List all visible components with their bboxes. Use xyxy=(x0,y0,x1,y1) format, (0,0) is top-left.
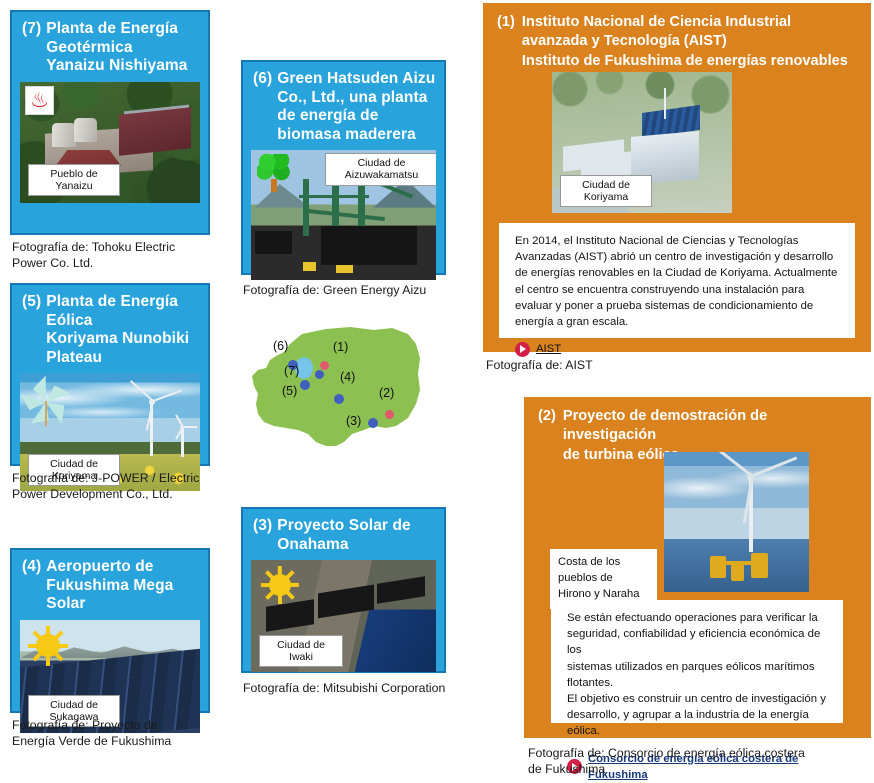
card-1-title-text: Instituto Nacional de Ciencia Industrial… xyxy=(522,13,848,71)
pinwheel-icon xyxy=(26,379,66,425)
card-3-photo: Ciudad de Iwaki xyxy=(251,560,436,672)
card-1-photo: Ciudad de Koriyama xyxy=(552,72,732,213)
card-6-title-text: Green Hatsuden Aizu Co., Ltd., una plant… xyxy=(277,70,435,144)
sun-icon xyxy=(28,626,68,666)
map-label-4: (4) xyxy=(340,370,355,384)
card-7-title: (7) Planta de Energía Geotérmica Yanaizu… xyxy=(22,20,200,76)
card-7-location-tag: Pueblo de Yanaizu xyxy=(28,164,120,196)
card-1-location-tag: Ciudad de Koriyama xyxy=(560,175,652,207)
card-5-number: (5) xyxy=(22,293,46,367)
card-1-link[interactable]: AIST xyxy=(515,341,842,357)
card-5-credit: Fotografía de: J-POWER / Electric Power … xyxy=(12,471,227,502)
card-7-photo: ♨ Pueblo de Yanaizu xyxy=(20,82,200,203)
card-5-title-text: Planta de Energía Eólica Koriyama Nunobi… xyxy=(46,293,200,367)
card-4-title: (4) Aeropuerto de Fukushima Mega Solar xyxy=(22,558,200,614)
card-2-textbox: Se están efectuando operaciones para ver… xyxy=(551,600,843,723)
card-6-photo: Ciudad de Aizuwakamatsu xyxy=(251,150,436,280)
card-3-title-text: Proyecto Solar de Onahama xyxy=(277,517,411,554)
card-4-title-text: Aeropuerto de Fukushima Mega Solar xyxy=(46,558,200,614)
card-7-number: (7) xyxy=(22,20,46,76)
card-3-number: (3) xyxy=(253,517,277,554)
onsen-icon: ♨ xyxy=(25,86,54,115)
map-marker-3[interactable] xyxy=(368,418,378,428)
card-6-location-tag: Ciudad de Aizuwakamatsu xyxy=(325,153,436,185)
map-marker-5[interactable] xyxy=(300,380,310,390)
card-2-body: Se están efectuando operaciones para ver… xyxy=(567,610,830,740)
card-5-wind[interactable]: (5) Planta de Energía Eólica Koriyama Nu… xyxy=(10,283,210,466)
card-6-biomass[interactable]: (6) Green Hatsuden Aizu Co., Ltd., una p… xyxy=(241,60,446,275)
map-label-3: (3) xyxy=(346,414,361,428)
map-label-2: (2) xyxy=(379,386,394,400)
fukushima-map[interactable]: (7) (6) (5) (1) (4) (3) (2) xyxy=(240,322,440,462)
card-2-number: (2) xyxy=(538,407,563,465)
card-6-title: (6) Green Hatsuden Aizu Co., Ltd., una p… xyxy=(253,70,436,144)
card-7-credit: Fotografía de: Tohoku Electric Power Co.… xyxy=(12,240,227,271)
map-label-7: (7) xyxy=(284,364,299,378)
card-1-link-label[interactable]: AIST xyxy=(536,341,561,357)
map-label-1: (1) xyxy=(333,340,348,354)
wind-turbine-small xyxy=(171,421,193,457)
card-3-title: (3) Proyecto Solar de Onahama xyxy=(253,517,436,554)
sun-icon xyxy=(261,566,299,604)
card-1-credit: Fotografía de: AIST xyxy=(486,358,786,374)
card-7-geothermal[interactable]: (7) Planta de Energía Geotérmica Yanaizu… xyxy=(10,10,210,235)
map-marker-7[interactable] xyxy=(315,370,324,379)
card-3-location-tag: Ciudad de Iwaki xyxy=(259,635,343,667)
card-1-textbox: En 2014, el Instituto Nacional de Cienci… xyxy=(499,223,855,338)
onsen-glyph: ♨ xyxy=(30,90,49,111)
card-1-number: (1) xyxy=(497,13,522,71)
card-3-onahama[interactable]: (3) Proyecto Solar de Onahama Ciudad de … xyxy=(241,507,446,673)
card-5-title: (5) Planta de Energía Eólica Koriyama Nu… xyxy=(22,293,200,367)
map-marker-4[interactable] xyxy=(334,394,344,404)
card-2-credit: Fotografía de: Consorcio de energía eóli… xyxy=(528,746,868,777)
map-label-6: (6) xyxy=(273,339,288,353)
card-6-number: (6) xyxy=(253,70,277,144)
map-marker-2[interactable] xyxy=(385,410,394,419)
card-4-number: (4) xyxy=(22,558,46,614)
card-1-title: (1) Instituto Nacional de Ciencia Indust… xyxy=(497,13,857,71)
map-label-5: (5) xyxy=(282,384,297,398)
card-7-title-text: Planta de Energía Geotérmica Yanaizu Nis… xyxy=(46,20,187,76)
card-2-offshore-wind[interactable]: (2) Proyecto de demostración de investig… xyxy=(524,397,871,738)
card-4-megasolar[interactable]: (4) Aeropuerto de Fukushima Mega Solar C… xyxy=(10,548,210,713)
play-icon xyxy=(515,342,530,357)
card-2-photo xyxy=(664,452,809,592)
wind-turbine-large xyxy=(132,390,172,456)
card-4-credit: Fotografía de: Proyecto de Energía Verde… xyxy=(12,718,227,749)
map-marker-1[interactable] xyxy=(320,361,329,370)
tree-icon xyxy=(257,154,291,192)
card-1-aist[interactable]: (1) Instituto Nacional de Ciencia Indust… xyxy=(483,3,871,352)
card-6-credit: Fotografía de: Green Energy Aizu xyxy=(243,283,483,299)
offshore-turbine xyxy=(725,460,777,552)
card-4-photo: Ciudad de Sukagawa xyxy=(20,620,200,733)
card-3-credit: Fotografía de: Mitsubishi Corporation xyxy=(243,681,483,697)
card-1-body: En 2014, el Instituto Nacional de Cienci… xyxy=(515,233,842,330)
